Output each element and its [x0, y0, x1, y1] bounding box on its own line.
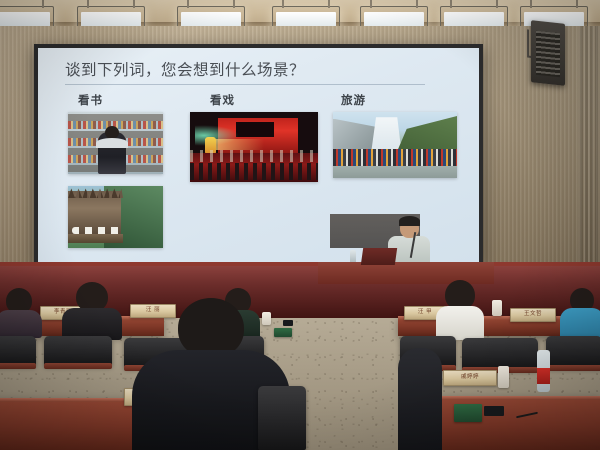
- attendee: [398, 348, 442, 450]
- slide-title: 谈到下列词，您会想到什么场景？: [65, 58, 305, 80]
- presenter-laptop-icon: [361, 248, 397, 265]
- attendee: [560, 288, 600, 340]
- line-array-speaker-icon: [531, 20, 565, 86]
- mountain-resort-photo: [68, 186, 163, 248]
- library-bookshelves-photo: [68, 112, 163, 174]
- chair: [546, 336, 600, 368]
- slide-label-reading: 看书: [78, 92, 103, 108]
- speaker-grille: [536, 31, 560, 78]
- chair: [0, 336, 36, 366]
- chair: [44, 336, 112, 366]
- slide-divider: [65, 84, 425, 85]
- lecture-hall-scene: 谈到下列词，您会想到什么场景？ 看书 看戏 旅游: [0, 0, 600, 450]
- desk-row2-left: [0, 398, 140, 450]
- theatre-performance-photo: [190, 112, 318, 182]
- nameplate: 王文哲: [510, 308, 556, 322]
- attendee: [0, 288, 42, 336]
- notebook: [454, 404, 482, 422]
- nameplate: 戚婷婷: [443, 370, 497, 386]
- nameplate-text: 汪 甲: [418, 310, 432, 316]
- side-curtain: [578, 26, 600, 296]
- slide-label-theatre: 看戏: [210, 92, 235, 108]
- waterfall-tourists-photo: [333, 112, 457, 178]
- chair: [258, 386, 306, 450]
- attendee: [436, 280, 484, 338]
- smartphone: [484, 406, 504, 416]
- water-bottle: [537, 350, 550, 392]
- attendee: [62, 282, 122, 338]
- paper-cup: [498, 366, 509, 388]
- nameplate-text: 戚婷婷: [461, 375, 479, 381]
- slide-label-travel: 旅游: [341, 92, 366, 108]
- paper-cup: [492, 300, 502, 316]
- nameplate-text: 王文哲: [524, 312, 542, 318]
